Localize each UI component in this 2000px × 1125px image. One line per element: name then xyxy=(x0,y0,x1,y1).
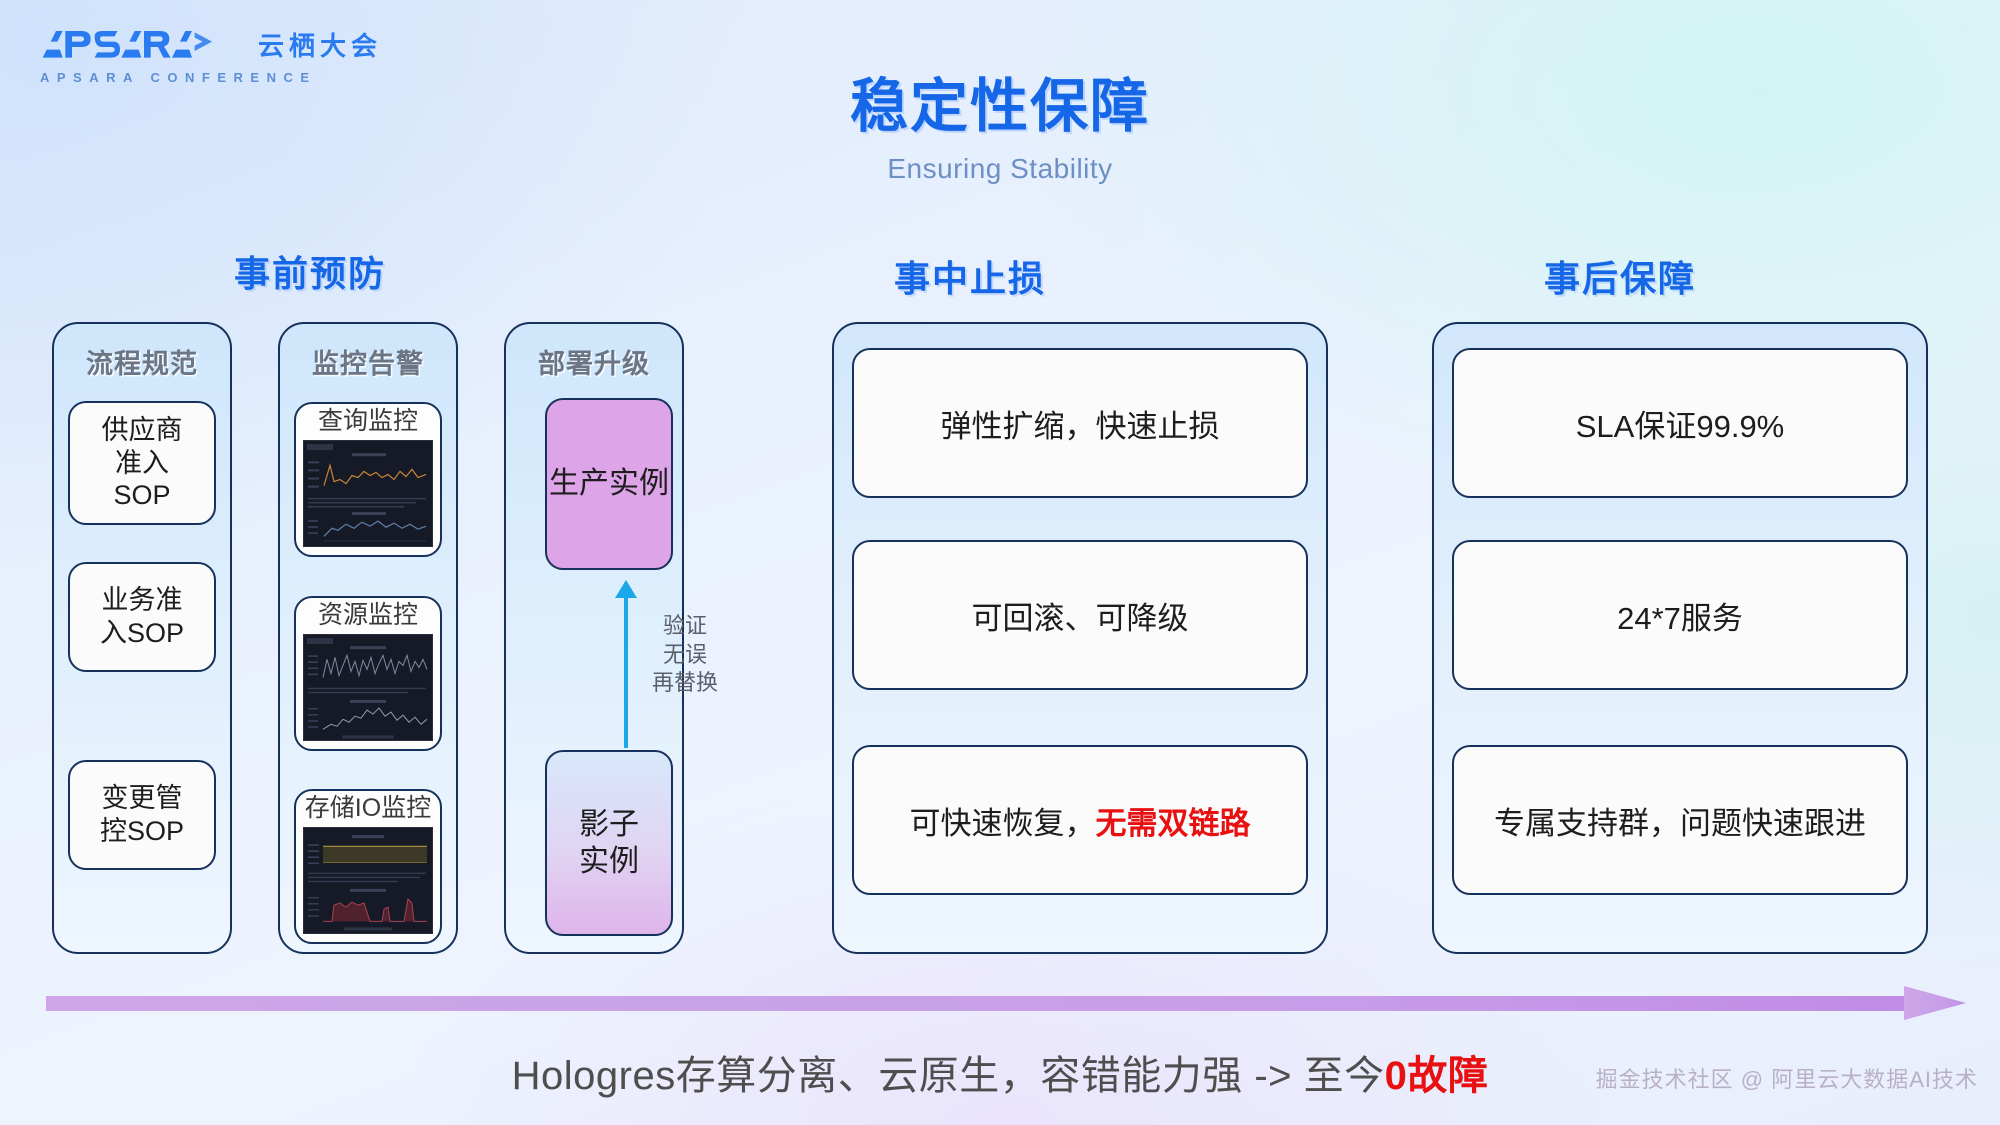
card-query-monitor-label: 查询监控 xyxy=(318,408,418,436)
upgrade-arrow-note: 验证无误再替换 xyxy=(636,612,734,698)
page-title: 稳定性保障 xyxy=(0,75,2000,139)
footer-statement-highlight: 0故障 xyxy=(1385,1054,1489,1098)
timeline-arrow-icon xyxy=(46,986,1966,1020)
card-24x7-service[interactable]: 24*7服务 xyxy=(1452,540,1908,690)
section-heading-post: 事后保障 xyxy=(1470,250,1770,302)
card-fast-recovery[interactable]: 可快速恢复，无需双链路 xyxy=(852,745,1308,895)
page-subtitle: Ensuring Stability xyxy=(0,153,2000,185)
upgrade-arrow-shaft-icon xyxy=(624,596,628,748)
card-shadow-instance[interactable]: 影子实例 xyxy=(545,750,673,936)
card-sla-guarantee-label: SLA保证99.9% xyxy=(1576,401,1785,446)
slide-canvas: 云栖大会 APSARA CONFERENCE 稳定性保障 Ensuring St… xyxy=(0,0,2000,1125)
card-business-sop[interactable]: 业务准入SOP xyxy=(68,562,216,672)
card-elastic-scaling[interactable]: 弹性扩缩，快速止损 xyxy=(852,348,1308,498)
card-storage-io-monitor[interactable]: 存储IO监控 xyxy=(294,789,442,944)
query-monitor-chart-thumbnail xyxy=(303,440,433,548)
footer-statement-text: Hologres存算分离、云原生，容错能力强 -> 至今 xyxy=(512,1054,1385,1098)
card-dedicated-support[interactable]: 专属支持群，问题快速跟进 xyxy=(1452,745,1908,895)
card-change-sop[interactable]: 变更管控SOP xyxy=(68,760,216,870)
card-production-instance[interactable]: 生产实例 xyxy=(545,398,673,570)
card-resource-monitor[interactable]: 资源监控 xyxy=(294,596,442,751)
card-fast-recovery-label: 可快速恢复， xyxy=(910,798,1096,843)
card-dedicated-support-label: 专属支持群，问题快速跟进 xyxy=(1494,798,1866,843)
page-title-block: 稳定性保障 Ensuring Stability xyxy=(0,75,2000,185)
card-fast-recovery-highlight: 无需双链路 xyxy=(1096,798,1251,843)
watermark: 掘金技术社区 @ 阿里云大数据AI技术 xyxy=(1596,1062,1978,1094)
card-business-sop-label: 业务准入SOP xyxy=(100,584,184,650)
group-title-process: 流程规范 xyxy=(54,342,230,381)
card-24x7-service-label: 24*7服务 xyxy=(1617,593,1743,638)
card-shadow-instance-label: 影子实例 xyxy=(579,806,639,881)
card-rollback-degrade[interactable]: 可回滚、可降级 xyxy=(852,540,1308,690)
group-title-deploy: 部署升级 xyxy=(506,342,682,381)
logo-chinese-name: 云栖大会 xyxy=(258,26,382,63)
section-heading-pre: 事前预防 xyxy=(180,245,440,297)
group-title-monitor: 监控告警 xyxy=(280,342,456,381)
card-storage-io-monitor-label: 存储IO监控 xyxy=(305,795,431,823)
card-production-instance-label: 生产实例 xyxy=(549,465,669,503)
card-resource-monitor-label: 资源监控 xyxy=(318,602,418,630)
card-rollback-degrade-label: 可回滚、可降级 xyxy=(972,593,1189,638)
apsara-wordmark-icon xyxy=(40,27,240,63)
section-heading-mid: 事中止损 xyxy=(820,250,1120,302)
resource-monitor-chart-thumbnail xyxy=(303,634,433,742)
storage-io-monitor-chart-thumbnail xyxy=(303,827,433,935)
card-change-sop-label: 变更管控SOP xyxy=(100,782,184,848)
card-supplier-sop[interactable]: 供应商准入SOP xyxy=(68,401,216,525)
card-sla-guarantee[interactable]: SLA保证99.9% xyxy=(1452,348,1908,498)
card-supplier-sop-label: 供应商准入SOP xyxy=(102,414,183,513)
card-query-monitor[interactable]: 查询监控 xyxy=(294,402,442,557)
card-elastic-scaling-label: 弹性扩缩，快速止损 xyxy=(941,401,1220,446)
